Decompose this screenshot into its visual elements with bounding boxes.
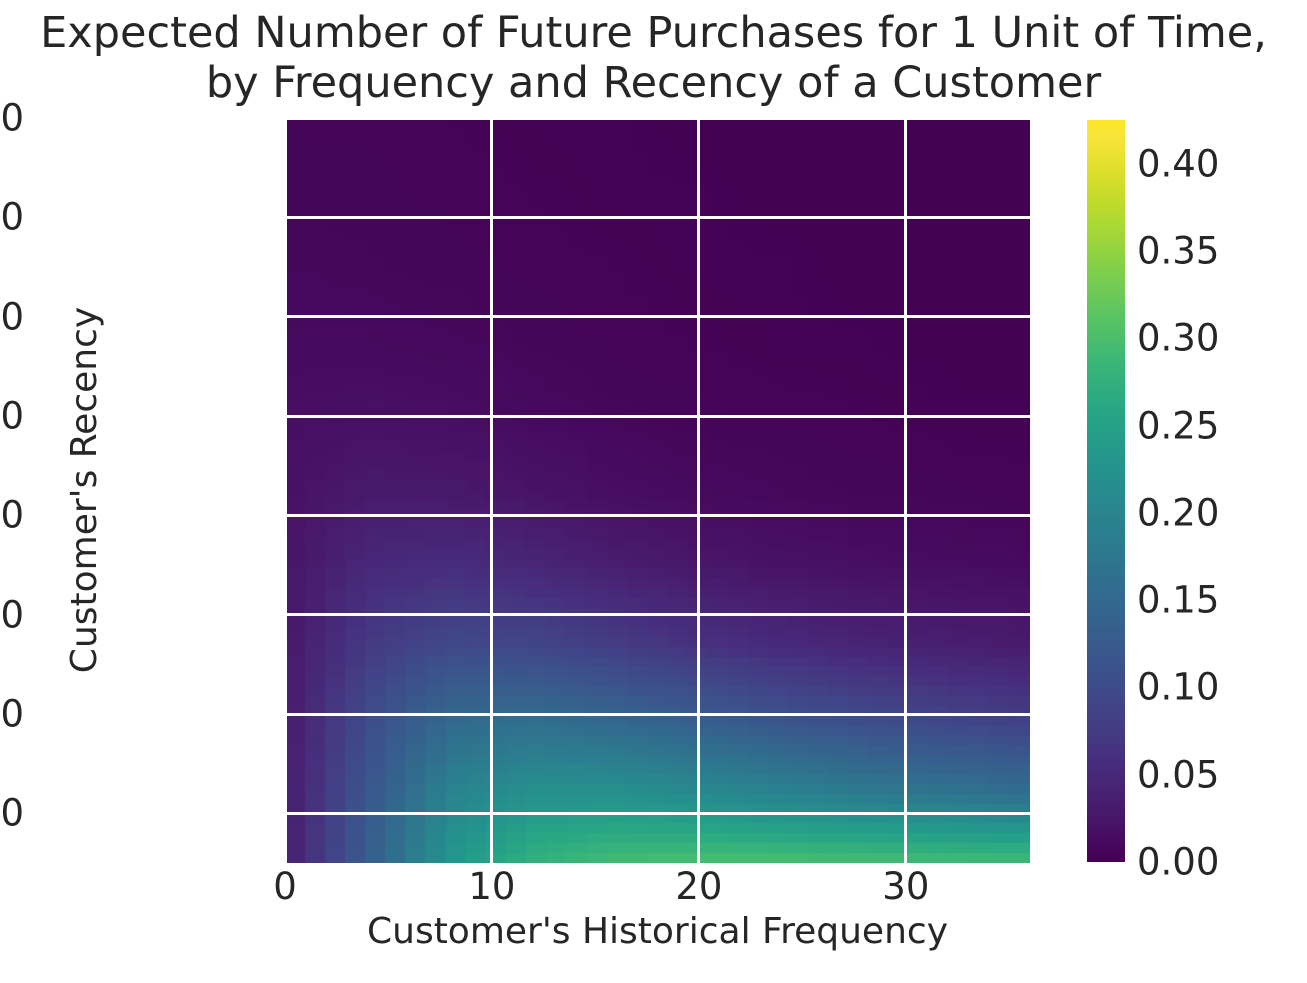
colorbar-tick-label: 0.10 [1137,669,1219,706]
x-tick-label: 0 [225,868,345,905]
y-tick-label: 40 [0,497,24,534]
y-tick-label: 10 [0,199,24,236]
x-tick-label: 20 [639,868,759,905]
x-axis-label: Customer's Historical Frequency [285,912,1030,952]
x-tick-label: 30 [846,868,966,905]
colorbar-tick-label: 0.05 [1137,756,1219,793]
colorbar-tick-label: 0.00 [1137,844,1219,881]
chart-figure: Expected Number of Future Purchases for … [0,0,1307,983]
y-axis-label: Customer's Recency [65,190,105,790]
colorbar-tick-label: 0.15 [1137,582,1219,619]
y-tick-label: 0 [0,100,24,137]
y-tick-label: 30 [0,398,24,435]
chart-title: Expected Number of Future Purchases for … [0,8,1307,108]
y-tick-label: 70 [0,795,24,832]
y-tick-label: 20 [0,298,24,335]
colorbar [1087,120,1125,862]
y-tick-label: 60 [0,696,24,733]
colorbar-tick-label: 0.40 [1137,145,1219,182]
colorbar-tick-label: 0.25 [1137,407,1219,444]
heatmap-image [285,118,1030,863]
x-tick-label: 10 [432,868,552,905]
y-tick-label: 50 [0,596,24,633]
heatmap-plot-area [285,118,1030,863]
colorbar-tick-label: 0.20 [1137,494,1219,531]
colorbar-tick-label: 0.30 [1137,320,1219,357]
colorbar-tick-label: 0.35 [1137,232,1219,269]
colorbar-gradient [1087,120,1125,862]
